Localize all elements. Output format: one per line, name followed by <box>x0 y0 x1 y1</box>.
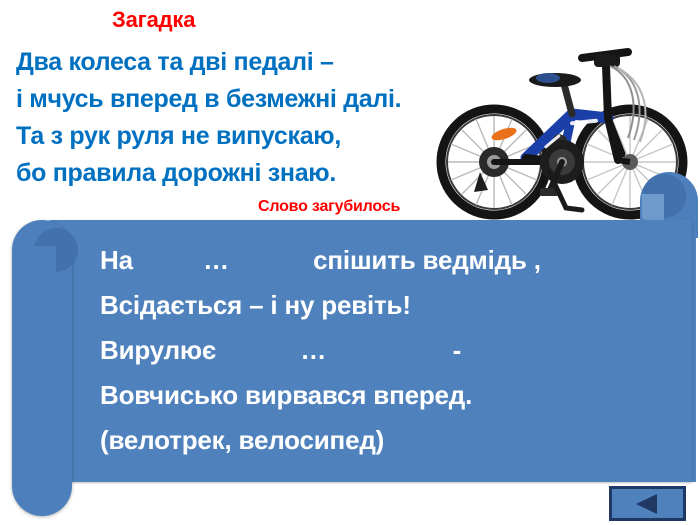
riddle-line: бо правила дорожні знаю. <box>16 155 486 192</box>
scroll-left-roll <box>12 220 72 516</box>
scroll-line: Вирулює … - <box>100 328 700 373</box>
scroll-right-curl-notch <box>642 194 664 220</box>
riddle-title: Загадка <box>112 7 195 33</box>
scroll-text-block: На … спішить ведмідь , Всідається – і ну… <box>100 238 700 463</box>
scroll-shape: На … спішить ведмідь , Всідається – і ну… <box>4 216 696 516</box>
scroll-panel: На … спішить ведмідь , Всідається – і ну… <box>40 220 692 482</box>
riddle-text-block: Два колеса та дві педалі – і мчусь впере… <box>16 44 486 192</box>
scroll-line: На … спішить ведмідь , <box>100 238 700 283</box>
slide-canvas: Загадка Два колеса та дві педалі – і мчу… <box>0 0 700 525</box>
scroll-line: Вовчисько вирвався вперед. <box>100 373 700 418</box>
riddle-line: і мчусь вперед в безмежні далі. <box>16 81 486 118</box>
scroll-line: Всідається – і ну ревіть! <box>100 283 700 328</box>
scroll-left-curl-notch <box>34 246 56 272</box>
lost-word-label: Слово загубилось <box>258 198 400 216</box>
riddle-line: Два колеса та дві педалі – <box>16 44 486 81</box>
nav-back-button[interactable] <box>609 486 686 521</box>
scroll-line: (велотрек, велосипед) <box>100 418 700 463</box>
triangle-left-icon <box>633 493 663 515</box>
riddle-line: Та з рук руля не випускаю, <box>16 118 486 155</box>
